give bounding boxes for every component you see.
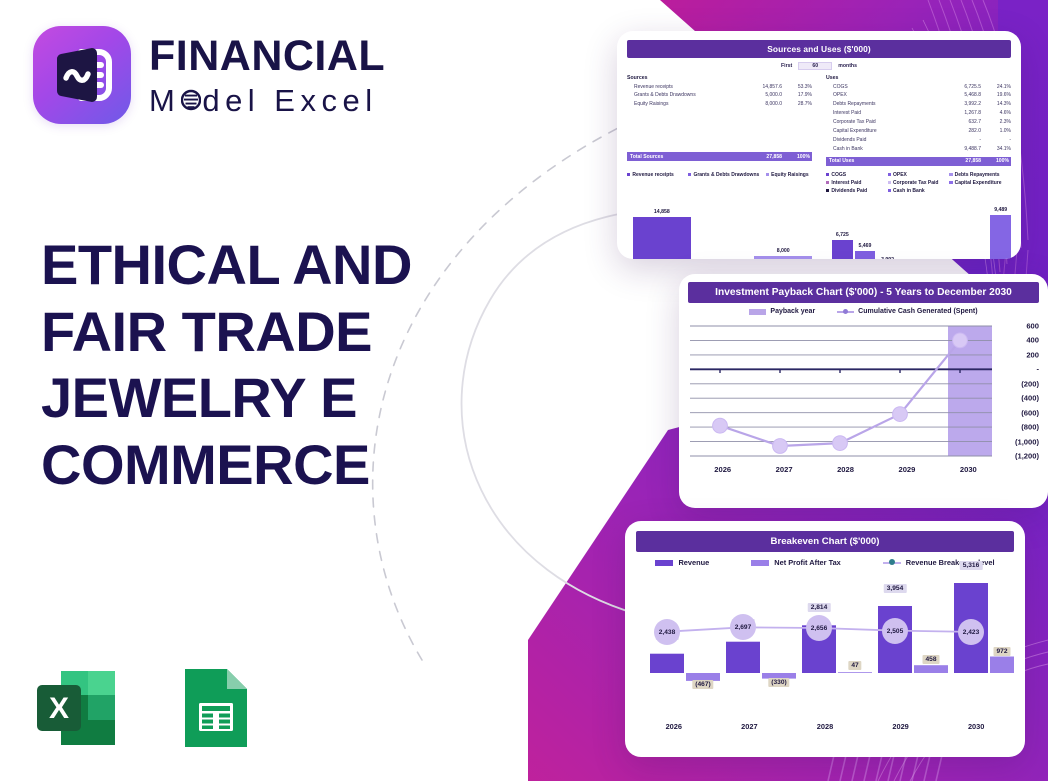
x-tick: 2028 <box>815 465 876 474</box>
legend-label: Revenue receipts <box>632 172 673 178</box>
row-value: 1,267.8 <box>941 109 981 118</box>
bar-item[interactable]: 14,858 <box>633 197 691 259</box>
x-tick: 2029 <box>876 465 937 474</box>
bar-value-label: (467) <box>692 680 713 689</box>
row-label: Capital Expenditure <box>826 127 941 136</box>
legend-item[interactable]: Cumulative Cash Generated (Spent) <box>837 308 977 315</box>
breakeven-legend: Revenue Net Profit After Tax Revenue Bre… <box>636 558 1014 567</box>
row-label: Revenue receipts <box>627 83 742 92</box>
legend-item[interactable]: Net Profit After Tax <box>751 558 841 567</box>
row-pct: 14.3% <box>981 100 1011 109</box>
svg-text:X: X <box>49 692 69 725</box>
bar-value-label: 2,814 <box>808 603 831 612</box>
row-label: OPEX <box>826 91 941 100</box>
bar-item[interactable]: 633 <box>923 197 944 259</box>
row-value: 14,857.6 <box>742 83 782 92</box>
row-pct: 2.3% <box>981 118 1011 127</box>
breakeven-bubble: 2,423 <box>958 619 984 645</box>
legend-label: Grants & Debts Drawdowns <box>693 172 759 178</box>
first-label: First <box>781 63 792 69</box>
breakeven-bubble: 2,438 <box>654 619 680 645</box>
bar-value-label: (330) <box>768 678 789 687</box>
legend-item[interactable]: Dividends Paid <box>826 188 888 194</box>
payback-chart-svg <box>690 322 1002 462</box>
bar-item[interactable]: 6,725 <box>832 197 853 259</box>
legend-item[interactable]: OPEX <box>888 172 950 178</box>
table-row: OPEX 5,468.8 19.6% <box>826 91 1011 100</box>
bar-value-label: 972 <box>993 647 1010 656</box>
bar-value-label: 458 <box>922 655 939 664</box>
row-label: Grants & Debts Drawdowns <box>627 91 742 100</box>
x-tick: 2030 <box>938 465 999 474</box>
bar-value-label: 5,316 <box>960 561 983 570</box>
brand-name-line1: FINANCIAL <box>149 35 385 78</box>
breakeven-title: Breakeven Chart ($'000) <box>636 531 1014 552</box>
legend-label: Revenue <box>678 558 709 567</box>
total-value: 27,858 <box>742 154 782 160</box>
row-label: Interest Paid <box>826 109 941 118</box>
bar <box>754 256 812 259</box>
legend-item[interactable]: Revenue <box>655 558 709 567</box>
legend-label: Net Profit After Tax <box>774 558 841 567</box>
row-pct: 17.9% <box>782 91 812 100</box>
bar <box>832 240 853 259</box>
spacer <box>627 141 812 149</box>
x-tick: 2027 <box>753 465 814 474</box>
legend-line-icon <box>837 311 854 313</box>
legend-swatch-icon <box>766 173 769 176</box>
bar-value-label: 14,858 <box>654 209 670 215</box>
bar-item[interactable]: 1,268 <box>900 197 921 259</box>
legend-label: Equity Raisings <box>771 172 809 178</box>
row-value: 5,468.8 <box>941 91 981 100</box>
total-label: Total Sources <box>627 154 742 160</box>
table-row: Dividends Paid - - <box>826 136 1011 145</box>
bar <box>990 215 1011 259</box>
y-tick: (200) <box>1021 379 1039 388</box>
bar <box>633 217 691 259</box>
total-sources-row: Total Sources 27,858 100% <box>627 152 812 161</box>
breakeven-bubble: 2,505 <box>882 618 908 644</box>
breakeven-bubble: 2,656 <box>806 615 832 641</box>
bar-value-label: 8,000 <box>777 248 790 254</box>
legend-label: COGS <box>831 172 846 178</box>
legend-item[interactable]: Cash in Bank <box>888 188 950 194</box>
microsoft-excel-icon: X <box>33 663 119 753</box>
panel-sources-and-uses[interactable]: Sources and Uses ($'000) First 60 months… <box>617 31 1021 259</box>
bar-value-label: 5,469 <box>858 243 871 249</box>
bar-value-label: 6,725 <box>836 232 849 238</box>
table-row: Corporate Tax Paid 632.7 2.3% <box>826 118 1011 127</box>
brand-name-line2-post: del Excel <box>202 85 377 116</box>
y-tick: 600 <box>1026 322 1039 331</box>
row-value: 632.7 <box>941 118 981 127</box>
legend-swatch-icon <box>888 189 891 192</box>
row-label: COGS <box>826 83 941 92</box>
y-tick: (400) <box>1021 394 1039 403</box>
legend-item[interactable]: Revenue receipts <box>627 172 688 178</box>
sources-table: Sources Revenue receipts 14,857.6 53.3% … <box>627 75 812 166</box>
bar-item[interactable]: 9,489 <box>990 197 1011 259</box>
financial-model-excel-logo-icon <box>33 26 131 124</box>
table-row: Revenue receipts 14,857.6 53.3% <box>627 83 812 92</box>
panel-investment-payback[interactable]: Investment Payback Chart ($'000) - 5 Yea… <box>679 274 1048 508</box>
payback-title: Investment Payback Chart ($'000) - 5 Yea… <box>688 282 1039 303</box>
legend-swatch-icon <box>949 173 952 176</box>
x-tick: 2026 <box>692 465 753 474</box>
row-pct: 24.1% <box>981 83 1011 92</box>
legend-swatch-icon <box>627 173 630 176</box>
legend-line-icon <box>883 562 901 564</box>
x-tick: 2030 <box>938 722 1014 731</box>
total-pct: 100% <box>981 158 1011 164</box>
legend-item[interactable]: Equity Raisings <box>766 172 812 178</box>
legend-swatch-icon <box>888 181 891 184</box>
brand-wordmark: FINANCIAL M del Excel <box>149 35 385 116</box>
y-tick: (800) <box>1021 423 1039 432</box>
left-content: FINANCIAL M del Excel Ethical and Fair T… <box>0 0 600 781</box>
legend-label: Cash in Bank <box>893 188 925 194</box>
legend-label: Corporate Tax Paid <box>893 180 938 186</box>
spacer <box>627 117 812 125</box>
row-pct: 1.0% <box>981 127 1011 136</box>
spacer <box>627 133 812 141</box>
legend-label: Debts Repayments <box>955 172 1000 178</box>
bar <box>855 251 876 259</box>
brand-name-line2: M del Excel <box>149 85 385 116</box>
o-stack-icon <box>181 87 201 113</box>
panel-breakeven[interactable]: Breakeven Chart ($'000) Revenue Net Prof… <box>625 521 1025 757</box>
sources-uses-title: Sources and Uses ($'000) <box>627 40 1011 58</box>
breakeven-bubble: 2,697 <box>730 614 756 640</box>
row-pct: - <box>981 136 1011 145</box>
legend-label: Capital Expenditure <box>955 180 1002 186</box>
months-label: months <box>838 63 857 69</box>
legend-label: OPEX <box>893 172 907 178</box>
bar-value-label: 3,992 <box>881 257 894 259</box>
app-icon-row: X <box>33 663 257 753</box>
legend-item[interactable]: Capital Expenditure <box>949 180 1011 186</box>
bar-item[interactable]: 282 <box>945 197 966 259</box>
legend-item[interactable]: Interest Paid <box>826 180 888 186</box>
legend-swatch-icon <box>751 560 769 566</box>
bar-value-label: 3,954 <box>884 584 907 593</box>
sources-header: Sources <box>627 75 812 81</box>
row-value: 3,992.2 <box>941 100 981 109</box>
legend-swatch-icon <box>826 189 829 192</box>
total-uses-row: Total Uses 27,858 100% <box>826 157 1011 166</box>
row-value: 5,000.0 <box>742 91 782 100</box>
row-value: 9,488.7 <box>941 145 981 154</box>
total-label: Total Uses <box>826 158 941 164</box>
row-label: Corporate Tax Paid <box>826 118 941 127</box>
row-value: 8,000.0 <box>742 100 782 109</box>
payback-x-axis: 2026 2027 2028 2029 2030 <box>692 465 999 474</box>
row-pct: 19.6% <box>981 91 1011 100</box>
y-tick: - <box>1036 365 1039 374</box>
y-tick: (600) <box>1021 408 1039 417</box>
legend-item[interactable]: Grants & Debts Drawdowns <box>688 172 766 178</box>
row-pct: 34.1% <box>981 145 1011 154</box>
table-row: Equity Raisings 8,000.0 28.7% <box>627 100 812 109</box>
brand-name-line2-pre: M <box>149 85 180 116</box>
uses-chart-legend: COGS OPEX Debts Repayments Interest Paid <box>826 172 1011 194</box>
row-value: - <box>941 136 981 145</box>
x-tick: 2029 <box>863 722 939 731</box>
row-label: Equity Raisings <box>627 100 742 109</box>
brand-lockup: FINANCIAL M del Excel <box>33 26 385 124</box>
legend-swatch-icon <box>888 173 891 176</box>
table-row: Grants & Debts Drawdowns 5,000.0 17.9% <box>627 91 812 100</box>
table-row: Capital Expenditure 282.0 1.0% <box>826 127 1011 136</box>
sources-bar-chart: 14,858 5,000 8,000 <box>627 197 818 259</box>
bar-item[interactable]: 8,000 <box>754 197 812 259</box>
legend-swatch-icon <box>826 181 829 184</box>
legend-swatch-icon <box>949 181 952 184</box>
spacer <box>627 109 812 117</box>
bar-value-label: 9,489 <box>994 207 1007 213</box>
legend-item[interactable]: Payback year <box>749 308 815 315</box>
legend-item[interactable]: Debts Repayments <box>949 172 1011 178</box>
row-label: Cash in Bank <box>826 145 941 154</box>
table-row: Interest Paid 1,267.8 4.6% <box>826 109 1011 118</box>
legend-swatch-icon <box>749 309 766 315</box>
row-value: 6,725.5 <box>941 83 981 92</box>
y-tick: 400 <box>1026 336 1039 345</box>
google-sheets-icon <box>171 663 257 753</box>
table-row: Debts Repayments 3,992.2 14.3% <box>826 100 1011 109</box>
legend-label: Cumulative Cash Generated (Spent) <box>858 308 977 315</box>
x-tick: 2026 <box>636 722 712 731</box>
table-row: COGS 6,725.5 24.1% <box>826 83 1011 92</box>
uses-bar-chart: 6,725 5,469 3,992 1,268 633 <box>832 197 1011 259</box>
row-pct: 53.3% <box>782 83 812 92</box>
breakeven-x-axis: 2026 2027 2028 2029 2030 <box>636 722 1014 731</box>
x-tick: 2027 <box>712 722 788 731</box>
total-value: 27,858 <box>941 158 981 164</box>
table-row: Cash in Bank 9,488.7 34.1% <box>826 145 1011 154</box>
payback-legend: Payback year Cumulative Cash Generated (… <box>688 308 1039 315</box>
payback-plot-area: 600 400 200 - (200) (400) (600) (800) (1… <box>688 322 1039 472</box>
sources-chart-legend: Revenue receipts Grants & Debts Drawdown… <box>627 172 812 178</box>
bar-value-label: 47 <box>848 661 861 670</box>
legend-label: Payback year <box>770 308 815 315</box>
legend-item[interactable]: COGS <box>826 172 888 178</box>
bar-item[interactable]: 5,000 <box>694 197 752 259</box>
row-pct: 28.7% <box>782 100 812 109</box>
breakeven-plot-area: 1,140 1,848 2,814 3,954 5,316 (467) (330… <box>636 573 1014 713</box>
spacer <box>627 125 812 133</box>
first-months-control[interactable]: First 60 months <box>627 62 1011 70</box>
bar-item[interactable]: 0 <box>968 197 989 259</box>
page-title: Ethical and Fair Trade Jewelry E Commerc… <box>41 232 501 499</box>
legend-label: Interest Paid <box>831 180 861 186</box>
legend-swatch-icon <box>688 173 691 176</box>
row-pct: 4.6% <box>981 109 1011 118</box>
y-tick: 200 <box>1026 350 1039 359</box>
y-tick: (1,000) <box>1015 437 1039 446</box>
bar-item[interactable]: 3,992 <box>877 197 898 259</box>
legend-item[interactable]: Corporate Tax Paid <box>888 180 950 186</box>
x-tick: 2028 <box>787 722 863 731</box>
total-pct: 100% <box>782 154 812 160</box>
legend-label: Dividends Paid <box>831 188 867 194</box>
bar-item[interactable]: 5,469 <box>855 197 876 259</box>
row-label: Debts Repayments <box>826 100 941 109</box>
y-tick: (1,200) <box>1015 452 1039 461</box>
uses-table: Uses COGS 6,725.5 24.1% OPEX 5,468.8 19.… <box>826 75 1011 166</box>
legend-swatch-icon <box>655 560 673 566</box>
row-label: Dividends Paid <box>826 136 941 145</box>
payback-y-axis: 600 400 200 - (200) (400) (600) (800) (1… <box>1003 322 1039 456</box>
months-input[interactable]: 60 <box>798 62 832 70</box>
legend-swatch-icon <box>826 173 829 176</box>
row-value: 282.0 <box>941 127 981 136</box>
uses-header: Uses <box>826 75 1011 81</box>
slide-canvas: FINANCIAL M del Excel Ethical and Fair T… <box>0 0 1048 781</box>
